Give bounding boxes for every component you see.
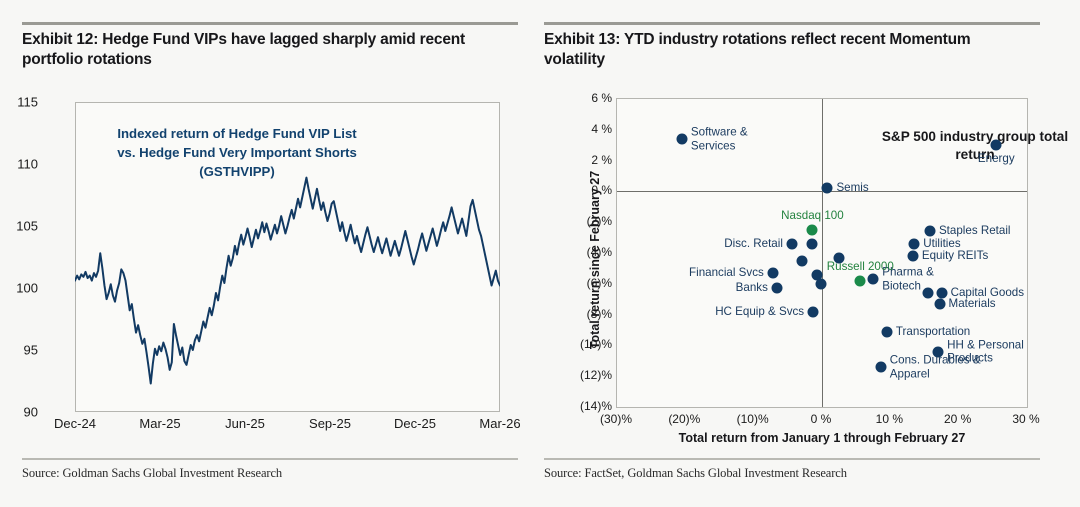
line-chart-annotation: Indexed return of Hedge Fund VIP List vs… [117,124,357,181]
scatter-point[interactable] [855,275,866,286]
scatter-point[interactable] [922,288,933,299]
scatter-x-tick: 30 % [991,412,1061,426]
scatter-y-tick: 0 % [550,183,612,197]
scatter-y-axis-title: Total return since February 27 [588,145,602,375]
exhibit-13-title: Exhibit 13: YTD industry rotations refle… [544,30,1014,71]
scatter-point[interactable] [875,361,886,372]
scatter-point-label: HC Equip & Svcs [715,305,804,319]
scatter-point[interactable] [868,274,879,285]
scatter-point[interactable] [771,283,782,294]
scatter-point[interactable] [676,134,687,145]
line-chart-y-tick: 110 [0,157,38,172]
scatter-y-tick: (2)% [550,214,612,228]
scatter-point-label: Transportation [896,325,970,339]
line-chart-x-tick: Mar-26 [460,416,540,431]
scatter-point-label: Semis [836,181,868,195]
exhibit-12-title: Exhibit 12: Hedge Fund VIPs have lagged … [22,30,492,71]
scatter-x-tick: (10)% [718,412,788,426]
line-chart-y-tick: 115 [0,95,38,110]
scatter-point[interactable] [991,140,1002,151]
scatter-point[interactable] [806,238,817,249]
scatter-point-label: Cons. Durables & Apparel [890,353,981,380]
scatter-y-tick: (4)% [550,245,612,259]
line-chart-x-tick: Jun-25 [205,416,285,431]
scatter-point-label: Equity REITs [922,249,988,263]
scatter-x-tick: 20 % [923,412,993,426]
scatter-point[interactable] [796,255,807,266]
line-chart-y-tick: 105 [0,219,38,234]
line-chart-y-tick: 95 [0,343,38,358]
scatter-point[interactable] [907,251,918,262]
scatter-point-label: Financial Svcs [689,266,764,280]
scatter-point-label: Russell 2000 [827,260,894,274]
top-rule-left [22,22,518,25]
top-rule-right [544,22,1040,25]
scatter-x-axis-title: Total return from January 1 through Febr… [616,431,1028,445]
scatter-point[interactable] [934,298,945,309]
line-chart: 1151101051009590 Dec-24Mar-25Jun-25Sep-2… [22,94,522,434]
scatter-point[interactable] [822,183,833,194]
scatter-y-tick: 4 % [550,122,612,136]
line-chart-x-tick: Dec-25 [375,416,455,431]
line-chart-x-tick: Mar-25 [120,416,200,431]
scatter-chart-frame: S&P 500 industry group total return Soft… [616,98,1028,408]
scatter-point[interactable] [881,326,892,337]
scatter-point-label: Software & Services [691,125,748,152]
scatter-y-tick: (12)% [550,368,612,382]
scatter-y-tick: (8)% [550,307,612,321]
line-chart-y-tick: 90 [0,405,38,420]
scatter-zero-x-line [822,99,823,407]
scatter-point[interactable] [808,306,819,317]
source-rule-right [544,458,1040,460]
scatter-y-tick: 6 % [550,91,612,105]
scatter-point[interactable] [815,278,826,289]
scatter-point-label: Banks [736,282,768,296]
scatter-point-label: Nasdaq 100 [781,209,844,223]
scatter-chart: S&P 500 industry group total return Soft… [544,90,1054,435]
line-chart-x-tick: Dec-24 [35,416,115,431]
scatter-point-label: Energy [978,152,1015,166]
scatter-y-tick: (14)% [550,399,612,413]
panel-exhibit-12: Exhibit 12: Hedge Fund VIPs have lagged … [22,0,532,507]
scatter-point[interactable] [767,268,778,279]
scatter-y-tick: 2 % [550,153,612,167]
scatter-x-tick: 10 % [854,412,924,426]
scatter-point[interactable] [807,224,818,235]
exhibit-page: Exhibit 12: Hedge Fund VIPs have lagged … [0,0,1080,507]
source-left: Source: Goldman Sachs Global Investment … [22,466,282,481]
scatter-point[interactable] [909,238,920,249]
line-chart-y-tick: 100 [0,281,38,296]
scatter-point[interactable] [936,288,947,299]
scatter-quadrant-header: S&P 500 industry group total return [870,128,1080,163]
scatter-point[interactable] [924,226,935,237]
source-right: Source: FactSet, Goldman Sachs Global In… [544,466,847,481]
scatter-point-label: Materials [949,297,996,311]
scatter-y-tick: (10)% [550,337,612,351]
scatter-x-tick: (20)% [649,412,719,426]
source-rule-left [22,458,518,460]
scatter-point[interactable] [786,238,797,249]
line-chart-x-tick: Sep-25 [290,416,370,431]
scatter-x-tick: 0 % [786,412,856,426]
panel-exhibit-13: Exhibit 13: YTD industry rotations refle… [544,0,1054,507]
scatter-y-tick: (6)% [550,276,612,290]
scatter-point-label: Disc. Retail [724,237,783,251]
scatter-x-tick: (30)% [581,412,651,426]
